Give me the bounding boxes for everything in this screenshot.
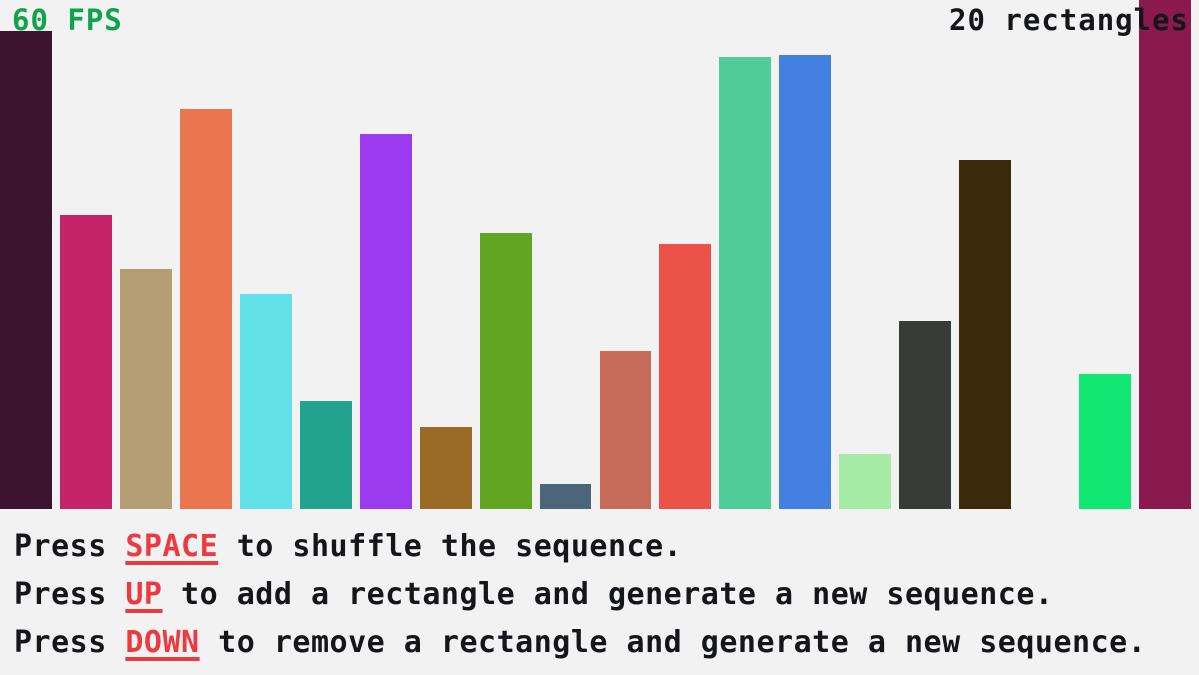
bar-red xyxy=(659,244,711,509)
instruction-suffix: to remove a rectangle and generate a new… xyxy=(200,625,1147,660)
bar-cyan xyxy=(240,294,292,509)
bar-wine xyxy=(1139,0,1191,509)
bar-tan xyxy=(120,269,172,509)
instruction-prefix: Press xyxy=(14,529,125,564)
bar-spring-green xyxy=(1079,374,1131,509)
bar-charcoal xyxy=(899,321,951,509)
instruction-line-1: Press SPACE to shuffle the sequence. xyxy=(14,523,1199,571)
bar-purple xyxy=(360,134,412,509)
bar-terracotta xyxy=(600,351,652,509)
rectangle-count-label: 20 rectangles xyxy=(949,6,1189,35)
instructions-panel: Press SPACE to shuffle the sequence.Pres… xyxy=(0,509,1199,675)
bar-emerald xyxy=(719,57,771,509)
bar-coral-orange xyxy=(180,109,232,509)
rectangles-demo-app: 60 FPS 20 rectangles Press SPACE to shuf… xyxy=(0,0,1199,675)
key-up[interactable]: UP xyxy=(125,577,162,612)
instruction-line-3: Press DOWN to remove a rectangle and gen… xyxy=(14,619,1199,667)
bar-chart xyxy=(0,0,1199,509)
instruction-suffix: to add a rectangle and generate a new se… xyxy=(163,577,1054,612)
bar-teal xyxy=(300,401,352,509)
bar-slate-blue xyxy=(540,484,592,509)
bar-dark-plum xyxy=(0,31,52,509)
bar-light-green xyxy=(839,454,891,509)
instruction-prefix: Press xyxy=(14,625,125,660)
instruction-line-2: Press UP to add a rectangle and generate… xyxy=(14,571,1199,619)
key-down[interactable]: DOWN xyxy=(125,625,199,660)
bar-royal-blue xyxy=(779,55,831,509)
bar-bronze xyxy=(420,427,472,509)
instruction-suffix: to shuffle the sequence. xyxy=(218,529,682,564)
key-space[interactable]: SPACE xyxy=(125,529,218,564)
bar-dark-brown xyxy=(959,160,1011,509)
bar-magenta-pink xyxy=(60,215,112,509)
bar-olive-green xyxy=(480,233,532,509)
instruction-prefix: Press xyxy=(14,577,125,612)
fps-counter: 60 FPS xyxy=(12,6,123,35)
